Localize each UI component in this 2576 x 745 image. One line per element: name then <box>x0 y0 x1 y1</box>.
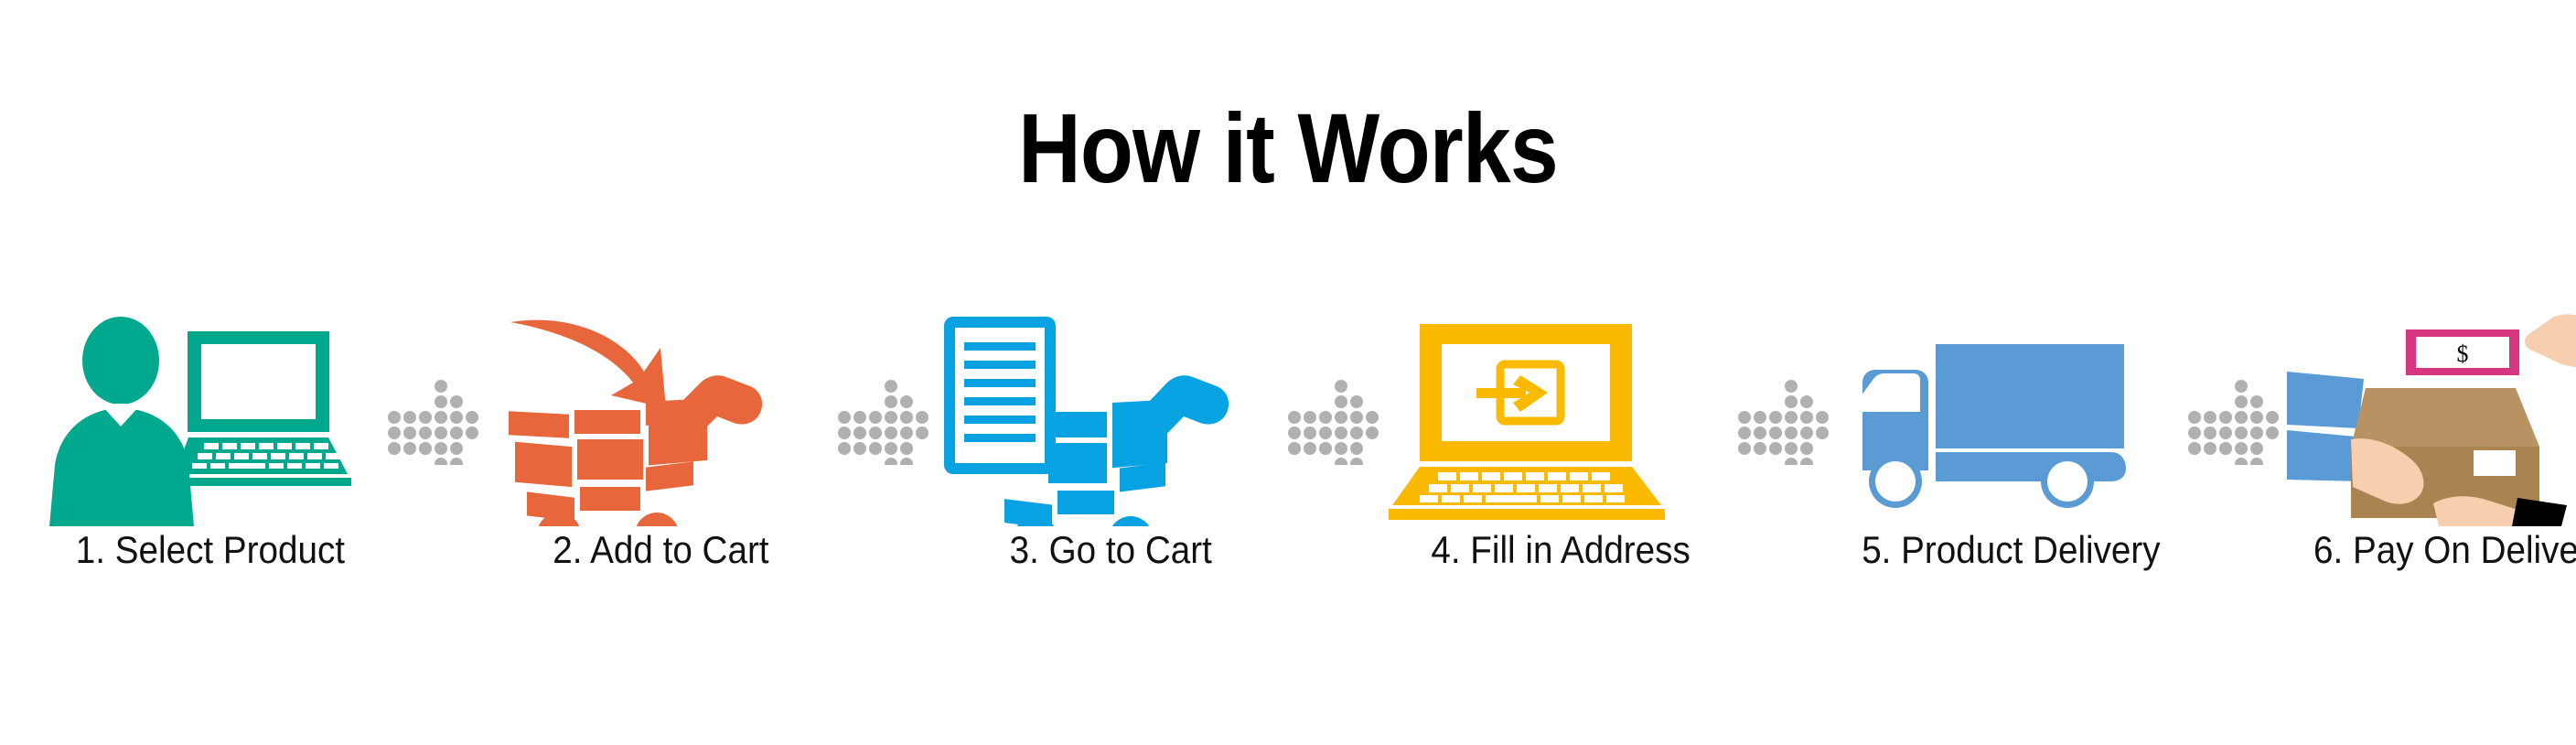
step-2-add-to-cart[interactable]: 2. Add to Cart <box>487 311 834 613</box>
dotted-arrow-right-icon <box>2184 311 2287 526</box>
step-label: 3. Go to Cart <box>1009 530 1211 570</box>
page-title: How it Works <box>155 99 2421 198</box>
document-with-shopping-cart-icon <box>937 311 1284 526</box>
step-5-product-delivery[interactable]: 5. Product Delivery <box>1837 311 2184 613</box>
step-label: 2. Add to Cart <box>553 530 768 570</box>
dollar-symbol: $ <box>2457 340 2469 367</box>
arrow-into-shopping-cart-icon <box>487 311 834 526</box>
hands-exchanging-box-and-cash-icon: $ <box>2287 311 2576 526</box>
dotted-arrow-right-icon <box>834 311 937 526</box>
dotted-arrow-right-icon <box>384 311 487 526</box>
step-label: 6. Pay On Delivery <box>2313 530 2576 570</box>
infographic-page: How it Works <box>0 0 2576 745</box>
laptop-with-login-arrow-icon <box>1387 311 1734 526</box>
step-6-pay-on-delivery[interactable]: $ 6. Pay <box>2287 311 2576 613</box>
steps-strip: 1. Select Product <box>37 311 2539 613</box>
step-label: 4. Fill in Address <box>1431 530 1690 570</box>
person-with-laptop-icon <box>37 311 384 526</box>
step-3-go-to-cart[interactable]: 3. Go to Cart <box>937 311 1284 613</box>
step-label: 1. Select Product <box>76 530 345 570</box>
dotted-arrow-right-icon <box>1284 311 1387 526</box>
step-4-fill-in-address[interactable]: 4. Fill in Address <box>1387 311 1734 613</box>
step-1-select-product[interactable]: 1. Select Product <box>37 311 384 613</box>
dotted-arrow-right-icon <box>1734 311 1837 526</box>
step-label: 5. Product Delivery <box>1862 530 2160 570</box>
delivery-truck-icon <box>1837 311 2184 526</box>
